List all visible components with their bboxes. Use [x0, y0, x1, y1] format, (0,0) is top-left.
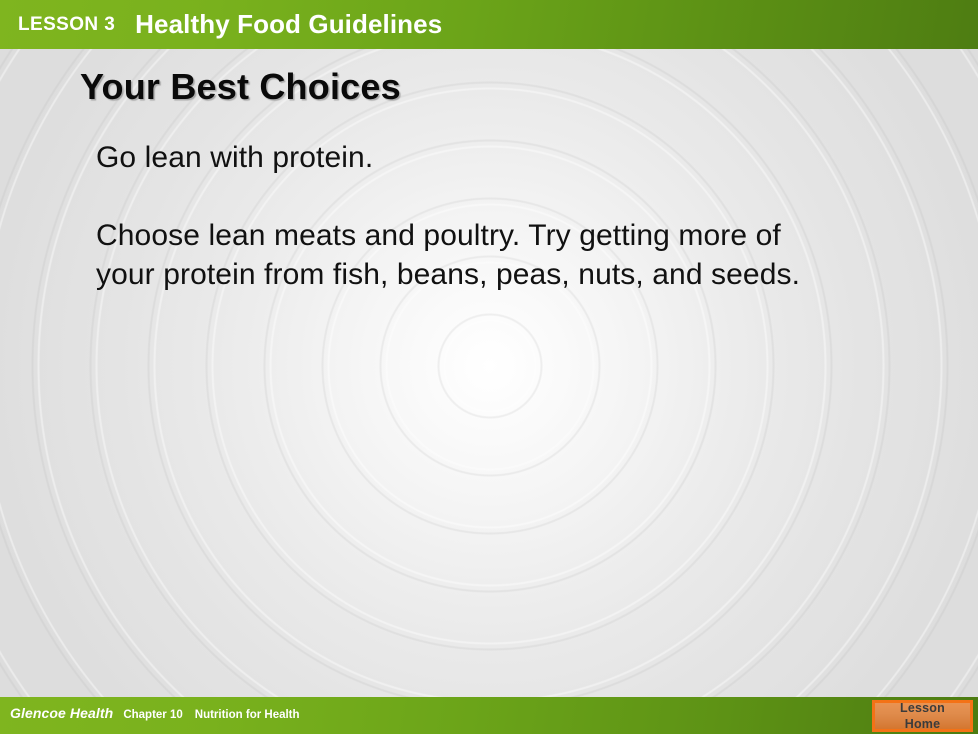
body-line-intro: Go lean with protein. [96, 138, 856, 177]
footer-brand-label: Glencoe Health [10, 705, 113, 721]
slide-footer-bar: Glencoe Health Chapter 10 Nutrition for … [0, 697, 978, 734]
body-paragraph-spacer [96, 177, 856, 216]
slide-body-content: Go lean with protein. Choose lean meats … [96, 138, 856, 294]
slide-title: Your Best Choices [80, 66, 401, 108]
lesson-home-button-label-line-2: Home [905, 718, 941, 731]
lesson-home-button-label-line-1: Lesson [900, 702, 945, 715]
header-lesson-label: LESSON 3 [18, 14, 115, 36]
footer-topic-label: Nutrition for Health [195, 709, 300, 721]
header-lesson-title: Healthy Food Guidelines [135, 9, 442, 40]
slide-background [0, 0, 978, 734]
lesson-home-button[interactable]: Lesson Home [872, 700, 973, 732]
presentation-slide: LESSON 3 Healthy Food Guidelines Your Be… [0, 0, 978, 734]
slide-header-bar: LESSON 3 Healthy Food Guidelines [0, 0, 978, 49]
body-paragraph-detail: Choose lean meats and poultry. Try getti… [96, 216, 826, 294]
footer-chapter-label: Chapter 10 [123, 709, 182, 721]
footer-credit-group: Glencoe Health Chapter 10 Nutrition for … [10, 705, 300, 721]
